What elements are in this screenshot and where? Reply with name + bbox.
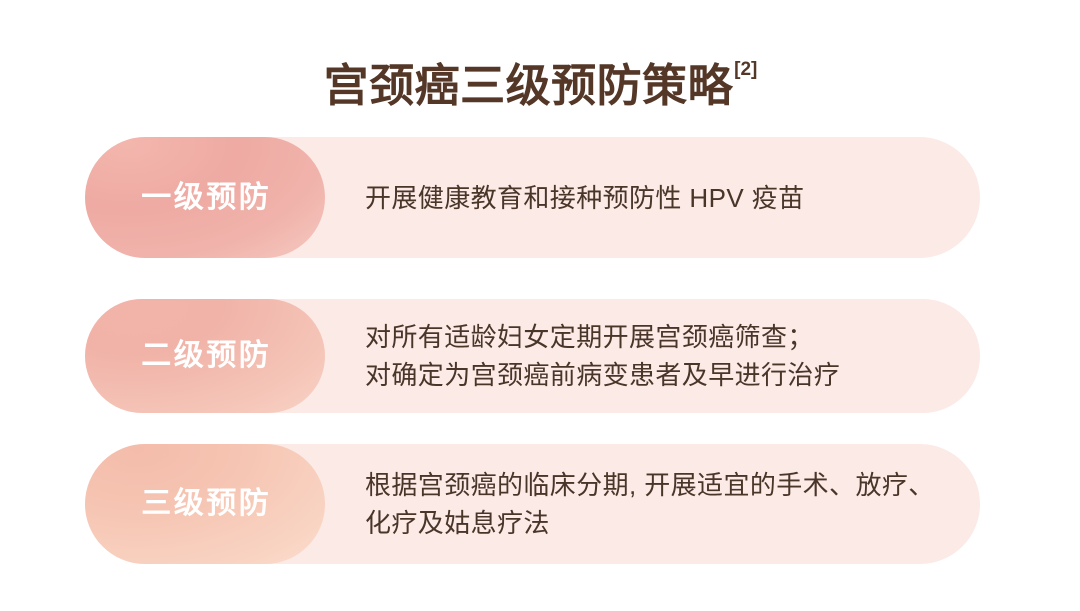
title-citation-superscript: [2] xyxy=(734,59,757,80)
description-line: 化疗及姑息疗法 xyxy=(365,504,935,542)
infographic-slide: 宫颈癌三级预防策略[2] 一级预防 开展健康教育和接种预防性 HPV 疫苗 二级… xyxy=(0,0,1080,611)
level-description-tertiary: 根据宫颈癌的临床分期, 开展适宜的手术、放疗、 化疗及姑息疗法 xyxy=(365,466,969,542)
level-badge-label: 二级预防 xyxy=(139,341,272,371)
level-badge-secondary[interactable]: 二级预防 xyxy=(85,299,325,413)
level-badge-tertiary[interactable]: 三级预防 xyxy=(85,444,325,564)
prevention-levels-list: 一级预防 开展健康教育和接种预防性 HPV 疫苗 二级预防 对所有适龄妇女定期开… xyxy=(85,137,980,564)
description-line: 对确定为宫颈癌前病变患者及早进行治疗 xyxy=(365,356,840,394)
level-description-primary: 开展健康教育和接种预防性 HPV 疫苗 xyxy=(365,179,839,217)
title-container: 宫颈癌三级预防策略[2] xyxy=(0,28,1080,145)
description-line: 对所有适龄妇女定期开展宫颈癌筛查； xyxy=(365,318,840,356)
page-title: 宫颈癌三级预防策略[2] xyxy=(324,58,757,114)
page-title-text: 宫颈癌三级预防策略 xyxy=(324,60,734,111)
prevention-level-row: 一级预防 开展健康教育和接种预防性 HPV 疫苗 xyxy=(85,137,980,258)
level-badge-label: 三级预防 xyxy=(139,489,272,519)
level-badge-label: 一级预防 xyxy=(139,183,272,213)
description-line: 根据宫颈癌的临床分期, 开展适宜的手术、放疗、 xyxy=(365,466,935,504)
level-badge-primary[interactable]: 一级预防 xyxy=(85,137,325,258)
description-line: 开展健康教育和接种预防性 HPV 疫苗 xyxy=(365,179,805,217)
level-description-secondary: 对所有适龄妇女定期开展宫颈癌筛查； 对确定为宫颈癌前病变患者及早进行治疗 xyxy=(365,318,874,394)
prevention-level-row: 二级预防 对所有适龄妇女定期开展宫颈癌筛查； 对确定为宫颈癌前病变患者及早进行治… xyxy=(85,299,980,413)
prevention-level-row: 三级预防 根据宫颈癌的临床分期, 开展适宜的手术、放疗、 化疗及姑息疗法 xyxy=(85,444,980,564)
